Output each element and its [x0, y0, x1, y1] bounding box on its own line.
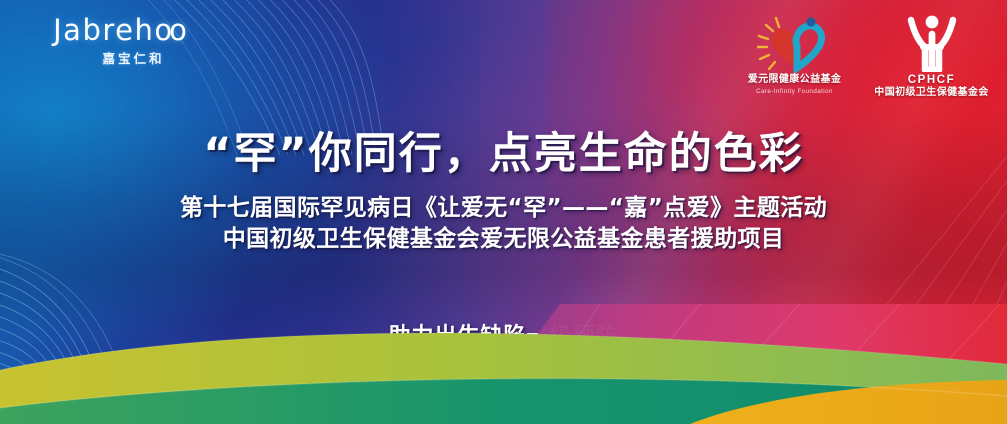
headline-block: “罕”你同行，点亮生命的色彩 第十七届国际罕见病日《让爱无“罕”——“嘉”点爱》… — [0, 128, 1007, 255]
partner-logo-cphcf: CPHCF 中国初级卫生保健基金会 — [874, 12, 989, 99]
subline-event: 第十七届国际罕见病日《让爱无“罕”——“嘉”点爱》主题活动 — [0, 193, 1007, 224]
partner-chinese-name: 中国初级卫生保健基金会 — [874, 87, 989, 99]
partner-logos: 爱元限健康公益基金 Care-Infinity Foundation CPHCF… — [737, 12, 989, 99]
brand-wordmark: Jabrehoo — [26, 14, 211, 46]
partner-logo-care-infinity: 爱元限健康公益基金 Care-Infinity Foundation — [737, 12, 852, 96]
bottom-color-ribbons — [0, 304, 1007, 424]
brand-logo: Jabrehoo 嘉宝仁和 — [26, 14, 211, 70]
person-raised-arms-icon — [874, 12, 989, 74]
brand-wordmark-text: Jabreh — [53, 13, 154, 47]
main-headline: “罕”你同行，点亮生命的色彩 — [0, 128, 1007, 180]
infinity-icon: oo — [154, 13, 184, 47]
partner-chinese-name: 爱元限健康公益基金 — [737, 74, 852, 86]
brand-chinese-name: 嘉宝仁和 — [26, 48, 211, 67]
subline-program: 中国初级卫生保健基金会爱无限公益基金患者援助项目 — [0, 224, 1007, 255]
partner-english-name: Care-Infinity Foundation — [737, 87, 852, 96]
campaign-banner: Jabrehoo 嘉宝仁和 — [0, 0, 1007, 424]
heart-sunburst-icon — [737, 12, 852, 74]
partner-acronym: CPHCF — [874, 74, 989, 87]
